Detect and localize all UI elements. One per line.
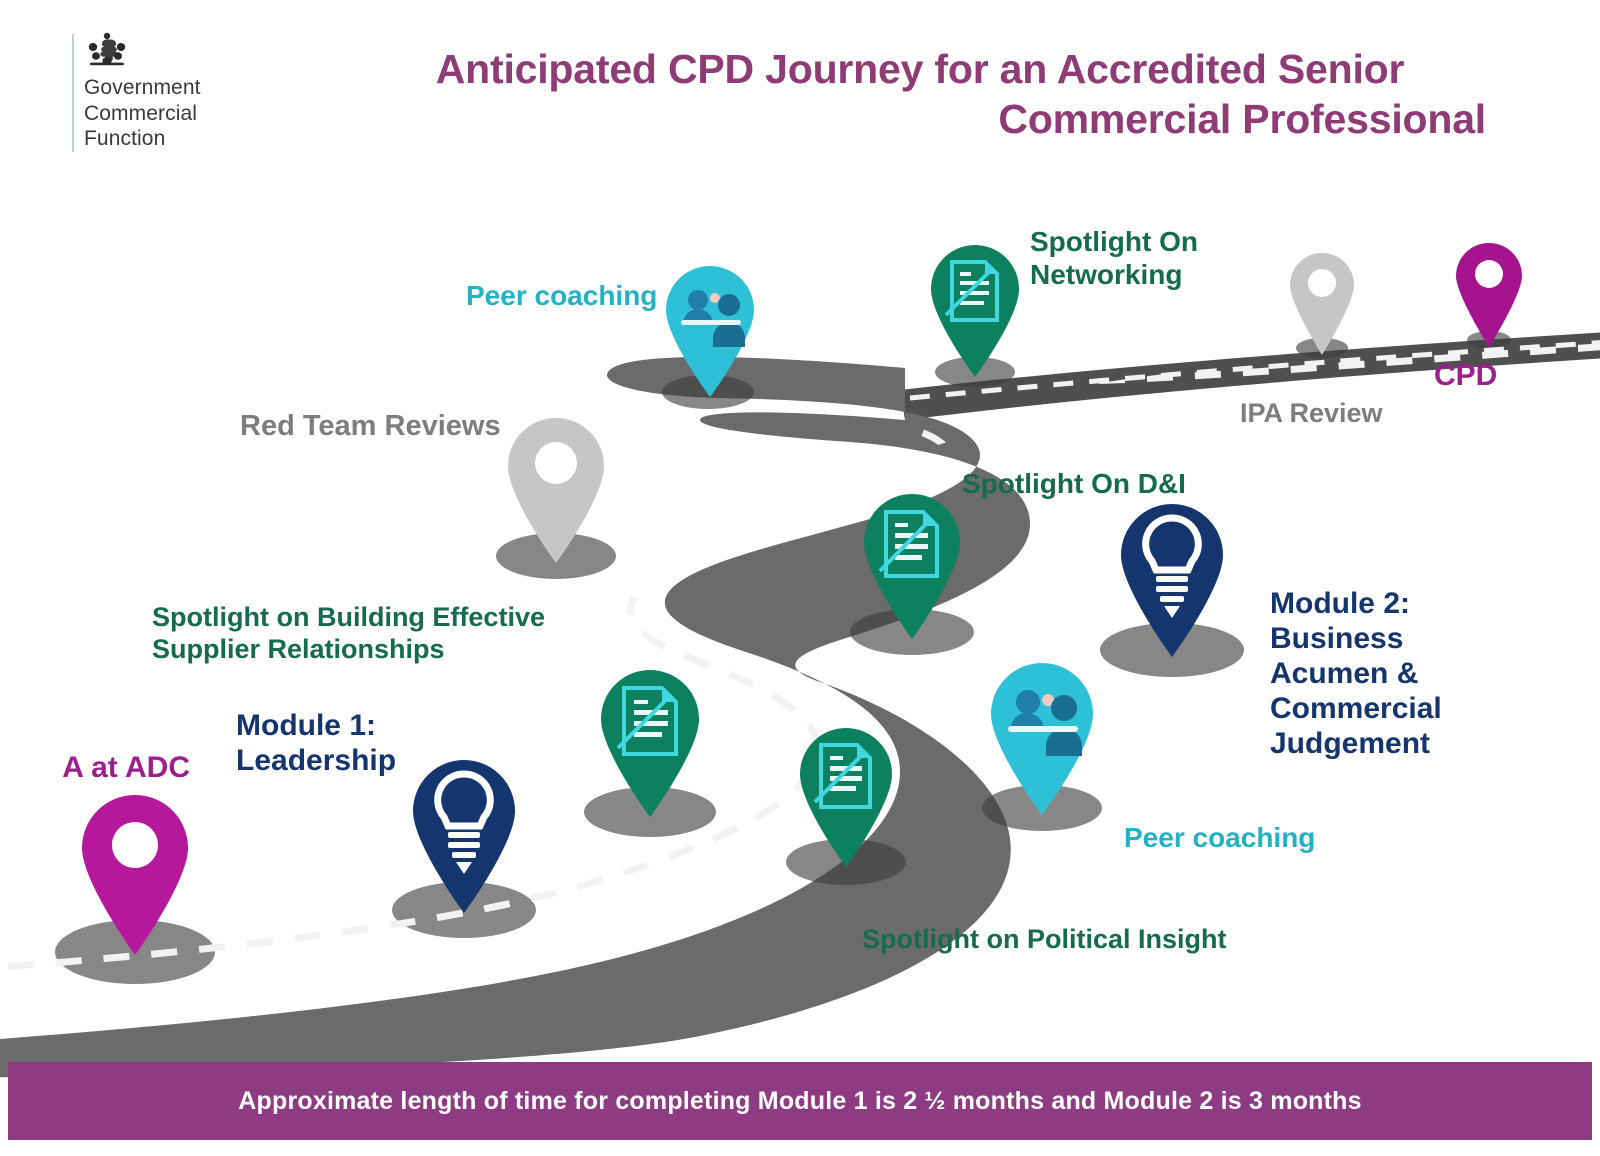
pin-spotlight-political-insight[interactable] — [795, 724, 897, 868]
label-module-2: Module 2: Business Acumen & Commercial J… — [1270, 586, 1490, 761]
label-peer-coaching-lower: Peer coaching — [1124, 822, 1374, 855]
label-a-at-adc: A at ADC — [30, 750, 190, 785]
footer-banner: Approximate length of time for completin… — [8, 1062, 1592, 1140]
pin-cpd[interactable] — [1453, 242, 1525, 348]
label-spotlight-d-and-i: Spotlight On D&I — [962, 468, 1292, 501]
label-spotlight-political-insight: Spotlight on Political Insight — [862, 924, 1292, 956]
pin-spotlight-supplier-relationships[interactable] — [596, 666, 704, 818]
page-title: Anticipated CPD Journey for an Accredite… — [330, 44, 1510, 144]
label-you-are-here: You are here — [308, 942, 548, 976]
label-peer-coaching-upper: Peer coaching — [466, 280, 716, 313]
gcf-logo: Government Commercial Function — [72, 32, 201, 152]
winding-road-graphic — [0, 0, 1600, 1156]
pin-peer-coaching-lower[interactable] — [986, 660, 1098, 816]
pin-ipa-review[interactable] — [1287, 252, 1357, 356]
pin-spotlight-networking[interactable] — [927, 242, 1023, 378]
label-spotlight-networking: Spotlight On Networking — [1030, 226, 1270, 292]
pin-module-1[interactable] — [408, 756, 520, 914]
label-spotlight-supplier-relationships: Spotlight on Building Effective Supplier… — [152, 602, 622, 665]
pin-module-2[interactable] — [1116, 500, 1228, 658]
title-line-1: Anticipated CPD Journey for an Accredite… — [436, 46, 1405, 92]
logo-line-commercial: Commercial — [84, 101, 201, 127]
infographic-canvas: Government Commercial Function Anticipat… — [0, 0, 1600, 1156]
logo-divider-rule — [72, 34, 74, 152]
label-cpd: CPD — [1434, 358, 1574, 393]
logo-line-government: Government — [84, 75, 201, 101]
title-line-2: Commercial Professional — [330, 94, 1510, 144]
label-ipa-review: IPA Review — [1240, 398, 1440, 430]
pin-spotlight-d-and-i[interactable] — [859, 490, 965, 640]
label-module-1: Module 1: Leadership — [236, 708, 466, 778]
label-red-team-reviews: Red Team Reviews — [240, 410, 540, 444]
royal-crown-icon — [84, 32, 201, 71]
logo-line-function: Function — [84, 126, 201, 152]
footer-text: Approximate length of time for completin… — [238, 1087, 1361, 1116]
pin-a-at-adc[interactable] — [76, 790, 194, 956]
